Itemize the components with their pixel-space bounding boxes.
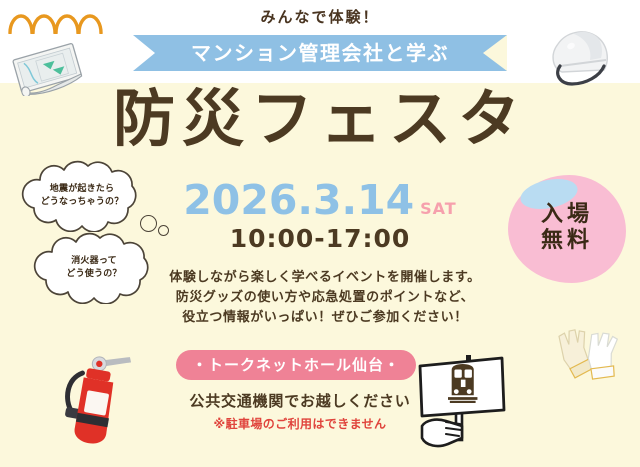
fire-extinguisher-icon xyxy=(56,340,138,450)
bubble-line-1: 消火器って xyxy=(71,255,117,268)
event-time: 10:00-17:00 xyxy=(150,224,490,253)
event-description: 体験しながら楽しく学べるイベントを開催します。 防災グッズの使い方や応急処置のポ… xyxy=(150,268,500,328)
page-kicker: みんなで体験！ xyxy=(0,6,640,27)
bubble-text: 消火器って どう使うの？ xyxy=(28,232,160,304)
bubble-line-2: どうなっちゃうの？ xyxy=(41,196,124,209)
bubble-line-2: どう使うの？ xyxy=(66,268,121,281)
work-gloves-icon xyxy=(548,318,630,396)
description-line: 防災グッズの使い方や応急処置のポイントなど、 xyxy=(150,288,500,308)
description-line: 体験しながら楽しく学べるイベントを開催します。 xyxy=(150,268,500,288)
badge-text: 入場 無料 xyxy=(508,202,626,254)
ribbon-label: マンション管理会社と学ぶ xyxy=(133,35,507,71)
venue-parking-note: ※駐車場のご利用はできません xyxy=(160,415,440,432)
badge-line-1: 入場 xyxy=(541,202,593,227)
event-date-row: 2026.3.14SAT xyxy=(150,176,490,224)
thought-bubble-earthquake: 地震が起きたら どうなっちゃうの？ xyxy=(16,160,148,232)
thought-bubble-extinguisher: 消火器って どう使うの？ xyxy=(28,232,160,304)
venue-name: ・トークネットホール仙台・ xyxy=(176,350,416,380)
event-day-of-week: SAT xyxy=(420,199,457,218)
event-poster: みんなで体験！ マンション管理会社と学ぶ 防災フェスタ 2026.3.14SAT… xyxy=(0,0,640,467)
bubble-line-1: 地震が起きたら xyxy=(50,183,114,196)
ribbon-banner: マンション管理会社と学ぶ xyxy=(133,35,507,71)
thought-dot-large-icon xyxy=(140,215,157,232)
description-line: 役立つ情報がいっぱい！ぜひご参加ください！ xyxy=(150,308,500,328)
venue-access-text: 公共交通機関でお越しください xyxy=(160,390,440,411)
bubble-text: 地震が起きたら どうなっちゃうの？ xyxy=(16,160,148,232)
free-admission-badge: 入場 無料 xyxy=(508,175,626,283)
badge-line-2: 無料 xyxy=(541,228,593,253)
event-date: 2026.3.14 xyxy=(183,176,414,224)
page-title: 防災フェスタ xyxy=(0,88,640,150)
